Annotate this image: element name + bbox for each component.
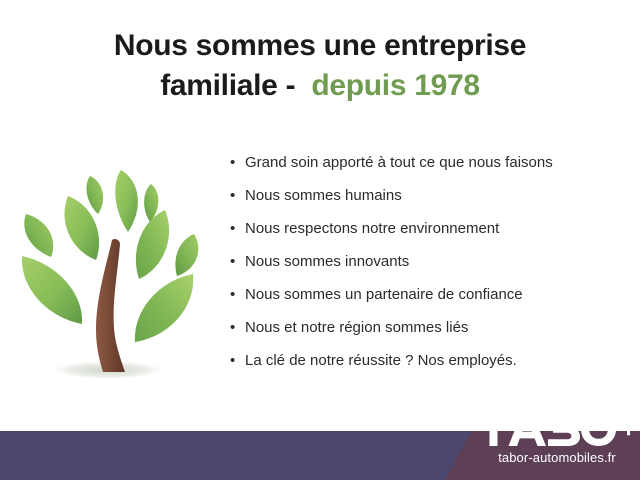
list-item: • Grand soin apporté à tout ce que nous … — [230, 152, 630, 185]
page-title: Nous sommes une entreprise familiale - d… — [0, 26, 640, 106]
list-item: • Nous sommes humains — [230, 185, 630, 218]
tabor-wordmark-icon — [478, 412, 630, 446]
bullet-marker-icon: • — [230, 284, 245, 306]
bullet-marker-icon: • — [230, 317, 245, 339]
bullet-marker-icon: • — [230, 185, 245, 207]
list-item-label: Grand soin apporté à tout ce que nous fa… — [245, 152, 553, 174]
bullet-marker-icon: • — [230, 152, 245, 174]
list-item-label: Nous sommes innovants — [245, 251, 409, 273]
title-line-2-plain: familiale - — [160, 69, 311, 102]
title-line-1: Nous sommes une entreprise — [0, 26, 640, 66]
title-line-2: familiale - depuis 1978 — [0, 66, 640, 106]
list-item-label: La clé de notre réussite ? Nos employés. — [245, 350, 517, 372]
list-item-label: Nous respectons notre environnement — [245, 218, 499, 240]
brand-logo[interactable]: tabor-automobiles.fr — [478, 412, 636, 474]
bullet-marker-icon: • — [230, 350, 245, 372]
value-bullet-list: • Grand soin apporté à tout ce que nous … — [230, 152, 630, 383]
bullet-marker-icon: • — [230, 218, 245, 240]
list-item-label: Nous sommes un partenaire de confiance — [245, 284, 523, 306]
list-item-label: Nous et notre région sommes liés — [245, 317, 468, 339]
title-highlight-year: depuis 1978 — [311, 69, 479, 102]
list-item: • Nous et notre région sommes liés — [230, 317, 630, 350]
brand-tagline: tabor-automobiles.fr — [482, 450, 632, 465]
tree-illustration — [8, 148, 213, 393]
list-item-label: Nous sommes humains — [245, 185, 402, 207]
bullet-marker-icon: • — [230, 251, 245, 273]
list-item: • La clé de notre réussite ? Nos employé… — [230, 350, 630, 383]
tree-trunk — [96, 239, 125, 372]
slide-canvas: Nous sommes une entreprise familiale - d… — [0, 0, 640, 480]
list-item: • Nous respectons notre environnement — [230, 218, 630, 251]
list-item: • Nous sommes un partenaire de confiance — [230, 284, 630, 317]
list-item: • Nous sommes innovants — [230, 251, 630, 284]
